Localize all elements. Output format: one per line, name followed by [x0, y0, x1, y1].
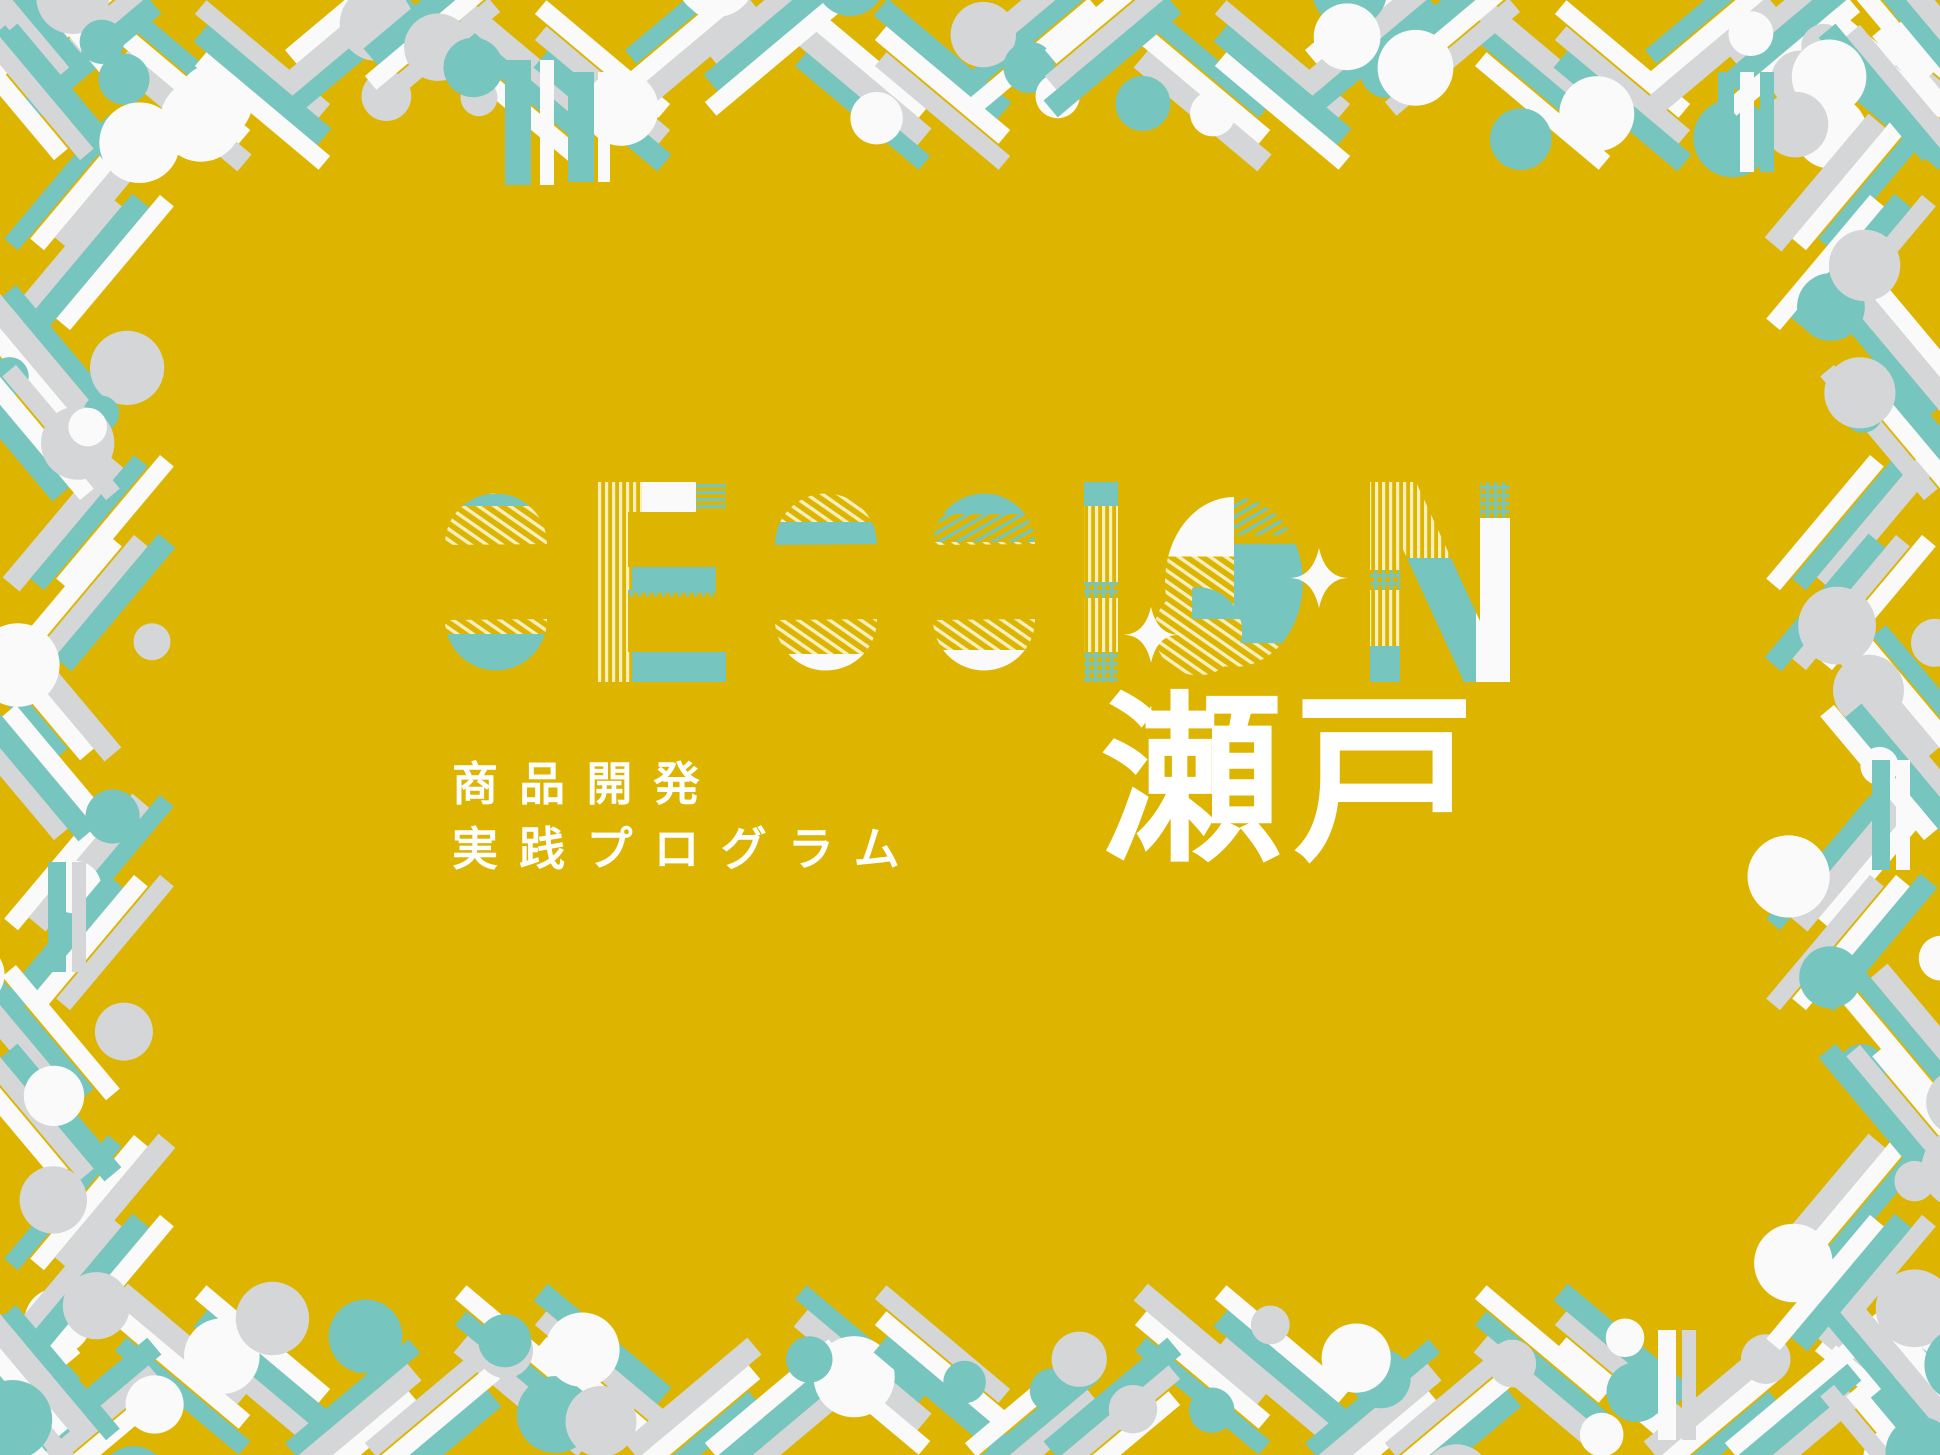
wordmark-letter — [588, 472, 760, 702]
decorative-chevron-border — [0, 0, 1940, 1455]
wordmark-letter — [730, 482, 922, 683]
program-subtitle: 商品開発実践プログラム — [452, 752, 921, 883]
subtitle-line-2: 実践プログラム — [452, 822, 921, 876]
subtitle-line-1: 商品開発 — [452, 757, 721, 811]
wordmark-letter — [1084, 482, 1118, 682]
poster-canvas: 商品開発実践プログラム 瀬戸 — [0, 0, 1940, 1455]
wordmark-letter — [1366, 478, 1514, 698]
place-name-seto: 瀬戸 — [1100, 690, 1486, 872]
wordmark-letter — [888, 482, 1080, 683]
wordmark-letter — [430, 482, 592, 683]
